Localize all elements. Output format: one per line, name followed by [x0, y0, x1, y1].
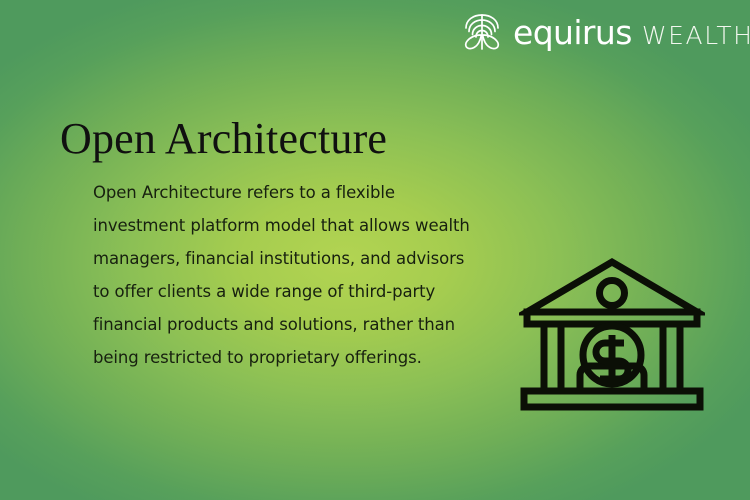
bank-building-with-dollar-coin-icon — [519, 255, 705, 425]
body-line: financial products and solutions, rather… — [93, 308, 513, 341]
body-line: investment platform model that allows we… — [93, 209, 513, 242]
body-line: managers, financial institutions, and ad… — [93, 242, 513, 275]
right-column — [663, 324, 680, 391]
brand-wordmark: equirus WEALTH — [513, 16, 750, 49]
equirus-banyan-tree-logo-mark — [460, 11, 504, 53]
body-paragraph: Open Architecture refers to a flexible i… — [93, 176, 513, 374]
dollar-sign-glyph — [596, 335, 628, 387]
brand-logo-lockup[interactable]: equirus WEALTH — [460, 9, 750, 55]
slide-canvas: equirus WEALTH Open Architecture Open Ar… — [0, 0, 750, 500]
brand-name-secondary: WEALTH — [642, 23, 750, 48]
left-column — [544, 324, 561, 391]
brand-name-primary: equirus — [513, 16, 632, 49]
page-title: Open Architecture — [60, 115, 387, 163]
body-line: to offer clients a wide range of third-p… — [93, 275, 513, 308]
body-line: being restricted to proprietary offering… — [93, 341, 513, 374]
base-plinth — [524, 391, 700, 407]
body-line: Open Architecture refers to a flexible — [93, 176, 513, 209]
roof-oculus-circle — [600, 281, 625, 306]
